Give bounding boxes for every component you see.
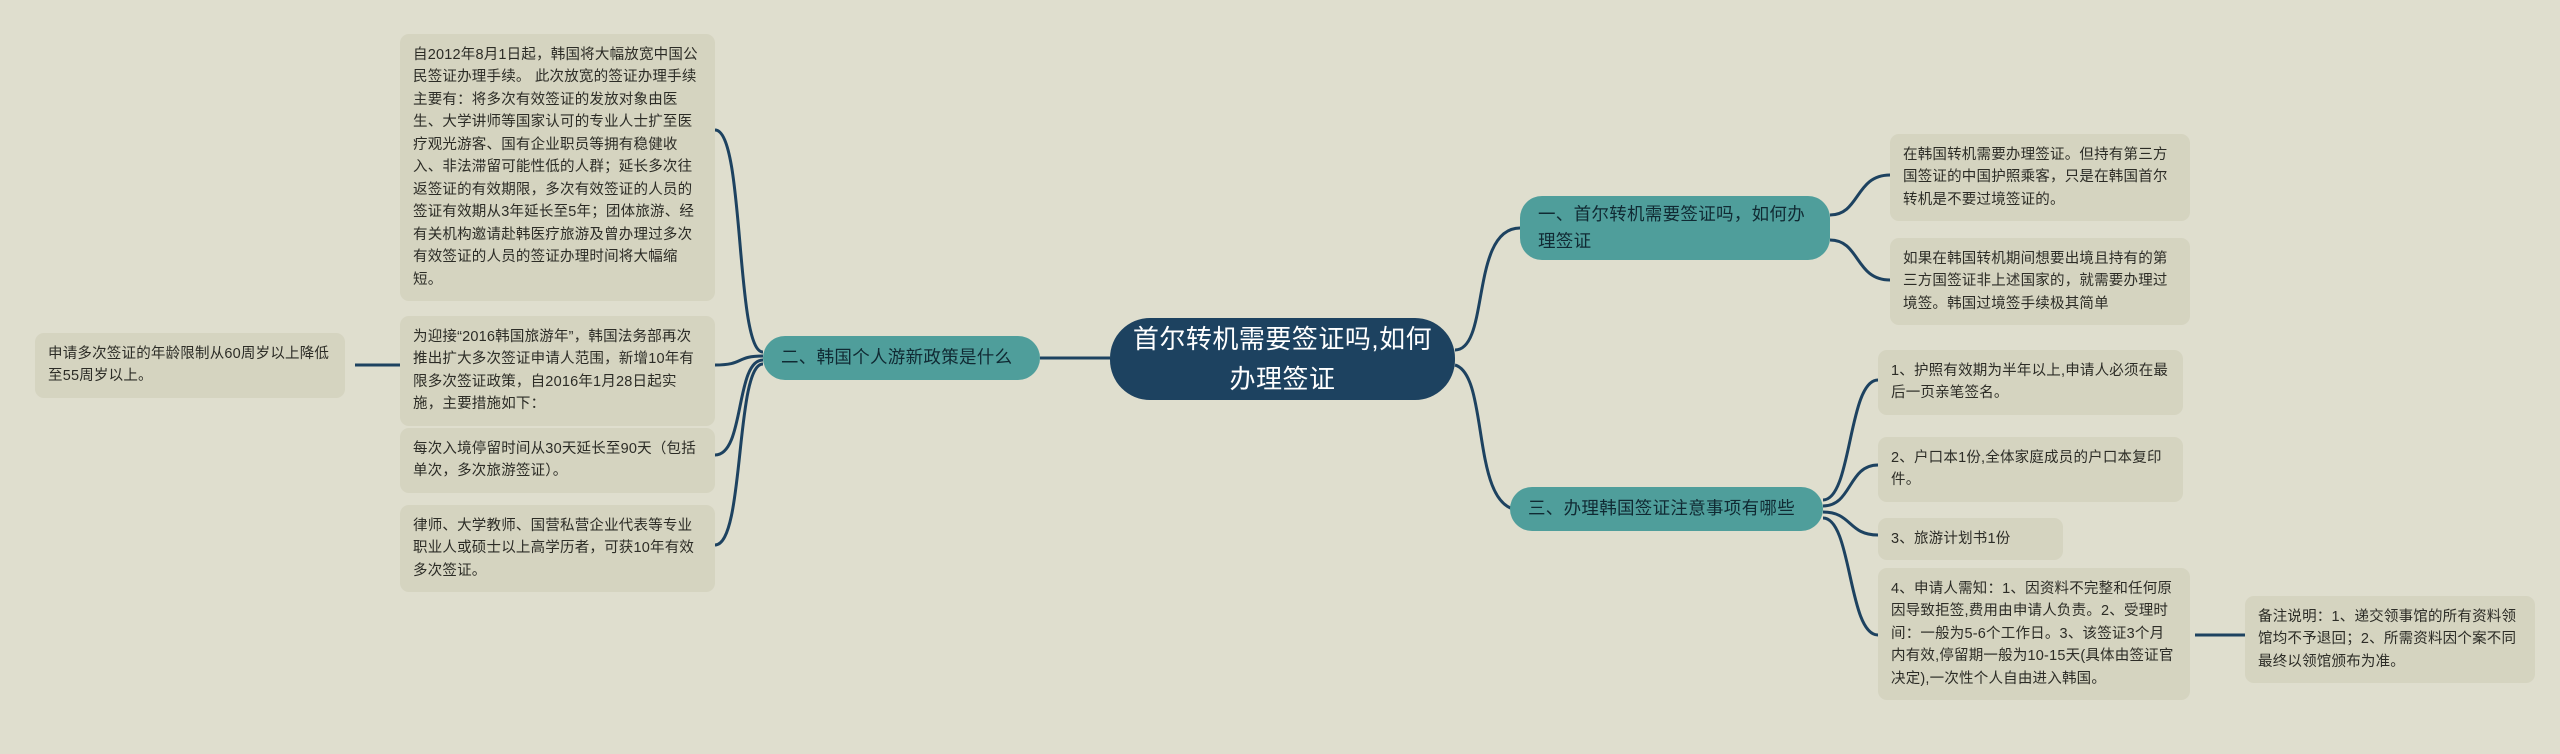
leaf-card-b3l1[interactable]: 1、护照有效期为半年以上,申请人必须在最后一页亲笔签名。 xyxy=(1878,350,2183,415)
link-b1-l2 xyxy=(1830,240,1890,280)
link-root-b3 xyxy=(1455,365,1520,510)
link-b3-l2 xyxy=(1823,465,1878,506)
leaf-card-b1l1[interactable]: 在韩国转机需要办理签证。但持有第三方国签证的中国护照乘客，只是在韩国首尔转机是不… xyxy=(1890,134,2190,221)
leaf-card-b2l4[interactable]: 律师、大学教师、国营私营企业代表等专业职业人或硕士以上高学历者，可获10年有效多… xyxy=(400,505,715,592)
leaf-card-b1l2[interactable]: 如果在韩国转机期间想要出境且持有的第三方国签证非上述国家的，就需要办理过境签。韩… xyxy=(1890,238,2190,325)
link-b2-l3 xyxy=(715,360,763,455)
leaf-card-b2l3[interactable]: 每次入境停留时间从30天延长至90天（包括单次，多次旅游签证）。 xyxy=(400,428,715,493)
link-b3-l4 xyxy=(1823,518,1878,635)
link-b3-l1 xyxy=(1823,380,1878,500)
leaf-card-b3l4[interactable]: 4、申请人需知：1、因资料不完整和任何原因导致拒签,费用由申请人负责。2、受理时… xyxy=(1878,568,2190,700)
root-node[interactable]: 首尔转机需要签证吗,如何办理签证 xyxy=(1110,318,1455,400)
leaf-card-b2l1[interactable]: 自2012年8月1日起，韩国将大幅放宽中国公民签证办理手续。 此次放宽的签证办理… xyxy=(400,34,715,301)
link-b3-l3 xyxy=(1823,512,1878,535)
branch-node-2[interactable]: 二、韩国个人游新政策是什么 xyxy=(763,336,1040,380)
link-b2-l2 xyxy=(715,356,763,365)
link-b1-l1 xyxy=(1830,175,1890,215)
link-b2-l4 xyxy=(715,364,763,545)
leaf-card-b3l4-child[interactable]: 备注说明：1、递交领事馆的所有资料领馆均不予退回；2、所需资料因个案不同最终以领… xyxy=(2245,596,2535,683)
leaf-card-b2l2-child[interactable]: 申请多次签证的年龄限制从60周岁以上降低至55周岁以上。 xyxy=(35,333,345,398)
branch-node-1[interactable]: 一、首尔转机需要签证吗，如何办理签证 xyxy=(1520,196,1830,260)
link-root-b1 xyxy=(1455,228,1520,350)
leaf-card-b2l2[interactable]: 为迎接“2016韩国旅游年”，韩国法务部再次推出扩大多次签证申请人范围，新增10… xyxy=(400,316,715,426)
leaf-card-b3l2[interactable]: 2、户口本1份,全体家庭成员的户口本复印件。 xyxy=(1878,437,2183,502)
link-b2-l1 xyxy=(715,130,763,352)
mindmap-canvas: 首尔转机需要签证吗,如何办理签证 一、首尔转机需要签证吗，如何办理签证 在韩国转… xyxy=(0,0,2560,754)
leaf-card-b3l3[interactable]: 3、旅游计划书1份 xyxy=(1878,518,2063,560)
branch-node-3[interactable]: 三、办理韩国签证注意事项有哪些 xyxy=(1510,487,1823,531)
